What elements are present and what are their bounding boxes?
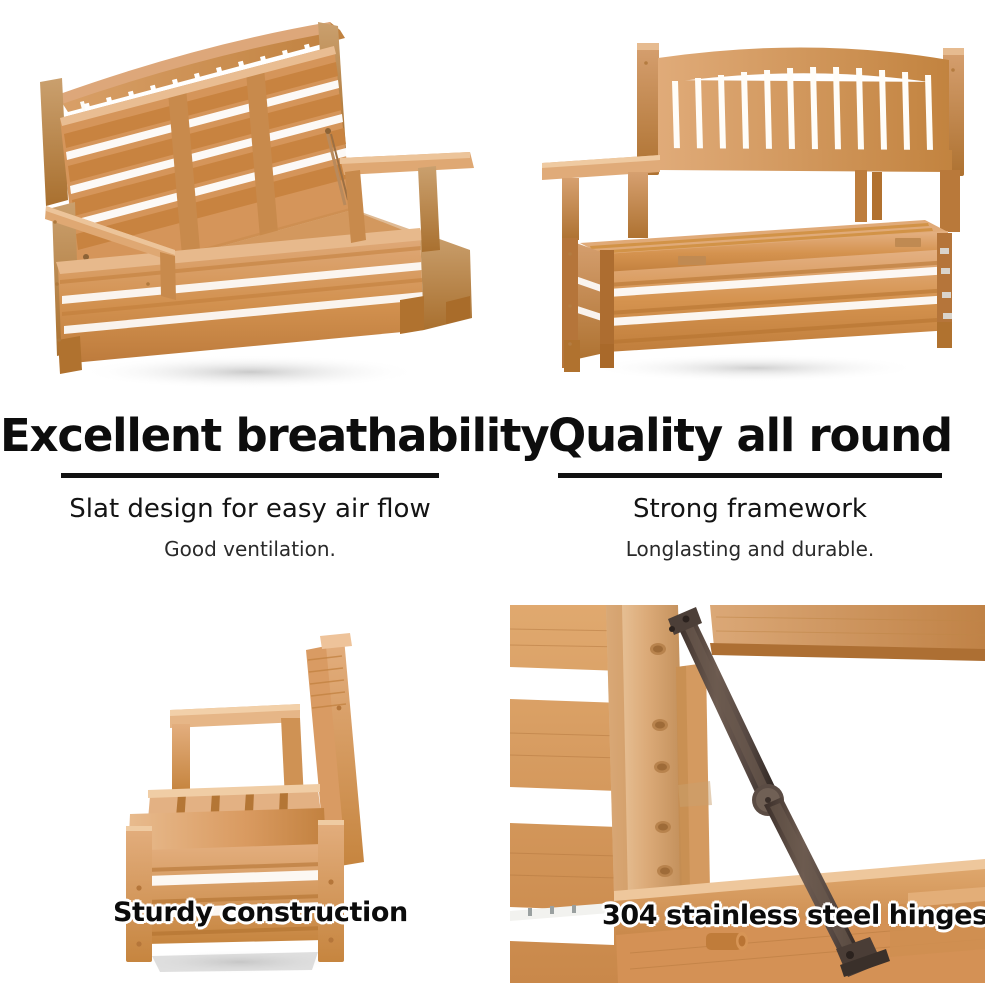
caption-sturdy-construction: Sturdy construction (113, 897, 408, 928)
feature-detail: Good ventilation. (0, 535, 500, 563)
caption-stainless-steel-hinges: 304 stainless steel hinges (602, 900, 985, 931)
bench-closed-illustration (500, 0, 1000, 400)
screw-head (337, 706, 342, 711)
inner-board (676, 663, 712, 893)
dowel-peg (706, 932, 748, 950)
bench-closed-photo (500, 0, 1000, 400)
bench-side-profile-photo: Sturdy construction (0, 600, 500, 1000)
feature-headline: Excellent breathability (0, 410, 500, 462)
feature-block-breathability: Excellent breathability Slat design for … (0, 410, 500, 563)
bench-open-illustration (0, 0, 500, 400)
lid-hinge-plate-right (895, 238, 921, 247)
feature-block-quality: Quality all round Strong framework Longl… (500, 410, 1000, 563)
box-body-side (146, 844, 324, 944)
back-support-post-2 (872, 172, 882, 220)
feature-subhead: Slat design for easy air flow (0, 492, 500, 526)
floor-shadow (590, 354, 920, 382)
lid-board-top (710, 605, 985, 661)
lid-hinge-plate-left (678, 256, 706, 265)
product-infographic: Excellent breathability Slat design for … (0, 0, 1000, 1000)
feature-divider (61, 473, 439, 478)
feature-headline: Quality all round (500, 410, 1000, 462)
floor-shadow (80, 355, 420, 389)
right-armrest (940, 170, 960, 232)
bench-open-lid-photo (0, 0, 500, 400)
feature-detail: Longlasting and durable. (500, 535, 1000, 563)
hinge-closeup-photo: 304 stainless steel hinges (510, 605, 985, 983)
back-support-post (855, 170, 867, 222)
bench-side-illustration (0, 600, 500, 1000)
feature-divider (558, 473, 942, 478)
left-armrest (542, 155, 660, 240)
feature-subhead: Strong framework (500, 492, 1000, 526)
backrest-group (637, 43, 964, 176)
corner-post (606, 605, 686, 905)
